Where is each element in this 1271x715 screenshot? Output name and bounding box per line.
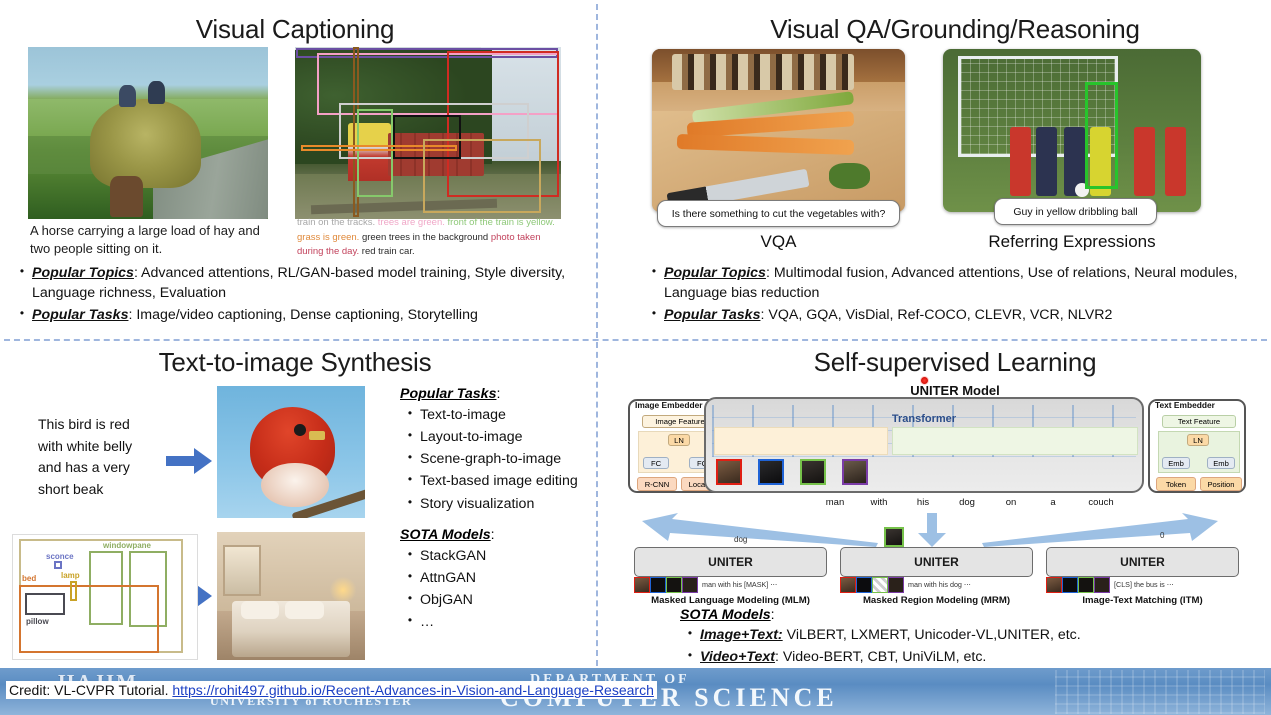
popular-tasks-heading: Popular Tasks <box>400 386 496 402</box>
layout-box-pillow <box>25 593 65 615</box>
image-ln-cell: LN <box>668 434 690 446</box>
itm-tokens: [CLS] the bus is ⋯ <box>1114 580 1174 589</box>
label-bed: bed <box>22 574 36 583</box>
bullet-text: : Image/video captioning, Dense captioni… <box>128 307 477 323</box>
lamp-glow <box>330 576 357 604</box>
mrm-token-strip: man with his dog ⋯ <box>840 576 971 594</box>
sota-models-heading: SOTA Models <box>400 527 491 543</box>
token-word-3: dog <box>946 497 988 508</box>
page-title-visual-qa: Visual QA/Grounding/Reasoning <box>650 14 1260 45</box>
region-token-3 <box>800 459 826 485</box>
ssl-sota-section: SOTA Models: • Image+Text: ViLBERT, LXME… <box>680 607 1240 669</box>
pillow-left <box>241 601 279 619</box>
credit-line: Credit: VL-CVPR Tutorial. https://rohit4… <box>6 681 657 699</box>
sota-text: ViLBERT, LXMERT, Unicoder-VL,UNITER, etc… <box>783 627 1081 643</box>
t2i-task-list: •Text-to-image •Layout-to-image •Scene-g… <box>400 405 590 514</box>
bullet-dot: • <box>680 625 700 642</box>
bullet-lead: Popular Tasks <box>32 307 128 323</box>
list-item: •StackGAN <box>400 546 590 566</box>
itm-region-1 <box>1046 577 1062 593</box>
dense-caption-0: train on the tracks. <box>297 217 375 228</box>
person-b <box>148 81 165 103</box>
task-label: Scene-graph-to-image <box>420 449 590 469</box>
t2i-sota-list: •StackGAN •AttnGAN •ObjGAN •… <box>400 546 590 633</box>
itm-caption: Image-Text Matching (ITM) <box>1040 595 1245 606</box>
region-token-4 <box>842 459 868 485</box>
itm-region-2 <box>1062 577 1078 593</box>
mrm-caption: Masked Region Modeling (MRM) <box>834 595 1039 606</box>
token-word-4: on <box>990 497 1032 508</box>
player-red-3 <box>1165 127 1186 195</box>
token-word-5: a <box>1032 497 1074 508</box>
building-illustration <box>1055 670 1265 714</box>
player-red-2 <box>1134 127 1155 195</box>
list-item: •Story visualization <box>400 494 590 514</box>
window <box>223 545 261 596</box>
mlm-region-2 <box>650 577 666 593</box>
bullet-dot: • <box>400 427 420 444</box>
hay-load <box>90 99 200 188</box>
token-cell: Token <box>1156 477 1196 491</box>
text-feature-cell: Text Feature <box>1162 415 1236 428</box>
dense-caption-4: green trees in the background <box>362 232 488 243</box>
vqa-question-balloon: Is there something to cut the vegetables… <box>657 200 900 227</box>
text-ln-cell: LN <box>1187 434 1209 446</box>
bullet-dot: • <box>644 263 664 280</box>
model-label: ObjGAN <box>420 590 590 610</box>
bullet-dot: • <box>680 647 700 664</box>
bullet-dot: • <box>400 568 420 585</box>
mrm-region-2 <box>856 577 872 593</box>
position-cell: Position <box>1200 477 1242 491</box>
horse-body <box>110 176 144 217</box>
list-item: • Popular Topics: Multimodal fusion, Adv… <box>644 263 1264 303</box>
bullet-text: : VQA, GQA, VisDial, Ref-COCO, CLEVR, VC… <box>760 307 1112 323</box>
bullet-lead: Popular Tasks <box>664 307 760 323</box>
plain-caption-text: A horse carrying a large load of hay and… <box>30 222 272 257</box>
image-token-embeds <box>714 427 888 455</box>
dense-caption-2: front of the train is yellow. <box>448 217 555 228</box>
list-item: •… <box>400 612 590 632</box>
mlm-region-3 <box>666 577 682 593</box>
itm-token-strip: [CLS] the bus is ⋯ <box>1046 576 1174 594</box>
captioning-bullets: • Popular Topics: Advanced attentions, R… <box>12 263 590 327</box>
vqa-kitchen-photo <box>652 49 905 212</box>
herbs <box>829 163 869 189</box>
mrm-region-1 <box>840 577 856 593</box>
task-label: Text-based image editing <box>420 471 590 491</box>
itm-target-label: 0 <box>1160 531 1164 540</box>
bullet-dot: • <box>400 405 420 422</box>
mrm-uniter-box: UNITER <box>840 547 1033 577</box>
itm-region-4 <box>1094 577 1110 593</box>
rcnn-cell: R-CNN <box>637 477 677 491</box>
label-windowpane: windowpane <box>103 541 151 550</box>
mlm-region-1 <box>634 577 650 593</box>
list-item: •Layout-to-image <box>400 427 590 447</box>
mlm-token-strip: man with his [MASK] ⋯ <box>634 576 778 594</box>
t2i-lists: Popular Tasks: •Text-to-image •Layout-to… <box>400 386 590 634</box>
task-label: Story visualization <box>420 494 590 514</box>
ssl-sota-heading: SOTA Models <box>680 607 771 623</box>
transformer-label: Transformer <box>706 413 1142 425</box>
vqa-sublabel: VQA <box>652 232 905 252</box>
bird-beak <box>309 431 325 440</box>
bullet-dot: • <box>400 546 420 563</box>
bird-eye <box>294 424 306 436</box>
bullet-dot: • <box>400 471 420 488</box>
jars-row <box>672 54 854 90</box>
itm-region-3 <box>1078 577 1094 593</box>
bullet-lead: Popular Topics <box>32 265 134 281</box>
arrow-to-mrm-icon <box>918 513 946 547</box>
list-item: • Popular Tasks: VQA, GQA, VisDial, Ref-… <box>644 305 1264 325</box>
text-embedder-title: Text Embedder <box>1155 400 1215 410</box>
sota-lead: Image+Text: <box>700 627 783 643</box>
dense-caption-text: train on the tracks. trees are green. fr… <box>297 216 565 260</box>
generated-bedroom-image <box>217 532 365 660</box>
dense-caption-1: trees are green. <box>378 217 445 228</box>
region-token-1 <box>716 459 742 485</box>
ssl-sota-list: • Image+Text: ViLBERT, LXMERT, Unicoder-… <box>680 625 1240 667</box>
token-word-2: his <box>902 497 944 508</box>
mrm-region-4 <box>888 577 904 593</box>
dense-caption-3: grass is green. <box>297 232 359 243</box>
region-token-2 <box>758 459 784 485</box>
list-item: •Text-to-image <box>400 405 590 425</box>
credit-url-link[interactable]: https://rohit497.github.io/Recent-Advanc… <box>172 682 653 698</box>
horse-hay-photo <box>28 47 268 219</box>
referring-expression-photo <box>943 49 1201 212</box>
page-title-self-supervised: Self-supervised Learning <box>650 347 1260 378</box>
referring-expression-sublabel: Referring Expressions <box>943 232 1201 252</box>
mlm-target-word: dog <box>734 535 747 544</box>
bullet-dot: • <box>12 263 32 280</box>
generated-bird-image <box>217 386 365 518</box>
mlm-caption: Masked Language Modeling (MLM) <box>628 595 833 606</box>
uniter-architecture-diagram: Image Embedder Image Feature LN FC FC R-… <box>628 385 1268 605</box>
dense-caption-6: red train car. <box>362 246 415 257</box>
list-item: •AttnGAN <box>400 568 590 588</box>
pillow-right <box>285 601 323 619</box>
bullet-dot: • <box>400 612 420 629</box>
bullet-dot: • <box>400 449 420 466</box>
player-red-1 <box>1010 127 1031 195</box>
bullet-dot: • <box>400 494 420 511</box>
bullet-lead: Popular Topics <box>664 265 766 281</box>
list-item: •Text-based image editing <box>400 471 590 491</box>
token-word-0: man <box>814 497 856 508</box>
bullet-dot: • <box>400 590 420 607</box>
task-label: Text-to-image <box>420 405 590 425</box>
model-label: StackGAN <box>420 546 590 566</box>
list-item: • Video+Text: Video-BERT, CBT, UniViLM, … <box>680 647 1240 667</box>
list-item: • Image+Text: ViLBERT, LXMERT, Unicoder-… <box>680 625 1240 645</box>
list-item: •Scene-graph-to-image <box>400 449 590 469</box>
itm-uniter-box: UNITER <box>1046 547 1239 577</box>
token-word-6: couch <box>1074 497 1128 508</box>
mlm-uniter-box: UNITER <box>634 547 827 577</box>
task-label: Layout-to-image <box>420 427 590 447</box>
text-embedder-block: Text Embedder Text Feature LN Emb Emb To… <box>1148 399 1246 493</box>
text-emb-left-cell: Emb <box>1162 457 1190 469</box>
mrm-target-region <box>884 527 904 547</box>
text-emb-right-cell: Emb <box>1207 457 1235 469</box>
label-sconce: sconce <box>46 552 74 561</box>
slide-canvas: Visual Captioning A horse carrying a lar… <box>0 0 1271 715</box>
referring-expression-balloon: Guy in yellow dribbling ball <box>994 198 1157 225</box>
scene-graph-layout: windowpane sconce bed lamp pillow <box>12 534 198 660</box>
bullet-dot: • <box>644 305 664 322</box>
sky-layer <box>481 47 561 161</box>
mrm-region-masked <box>872 577 888 593</box>
player-dark-1 <box>1036 127 1057 195</box>
locomotive <box>348 123 391 181</box>
train-cars <box>388 133 484 176</box>
person-a <box>119 85 136 107</box>
arrow-to-mlm-icon <box>642 513 882 547</box>
train-dense-caption-photo <box>295 47 561 219</box>
sota-text: : Video-BERT, CBT, UniViLM, etc. <box>775 649 986 665</box>
page-title-visual-captioning: Visual Captioning <box>60 14 530 45</box>
layout-box-lamp <box>70 581 77 601</box>
model-label: AttnGAN <box>420 568 590 588</box>
text-prompt: This bird is red with white belly and ha… <box>38 414 158 501</box>
page-title-text-to-image: Text-to-image Synthesis <box>60 347 530 378</box>
arrow-to-itm-icon <box>978 513 1218 547</box>
mlm-tokens: man with his [MASK] ⋯ <box>702 580 778 589</box>
credit-prefix: Credit: VL-CVPR Tutorial. <box>9 682 169 698</box>
transformer-block: Transformer <box>704 397 1144 493</box>
horizontal-divider <box>4 339 1267 341</box>
list-item: • Popular Topics: Advanced attentions, R… <box>12 263 590 303</box>
label-pillow: pillow <box>26 617 49 626</box>
image-fc-left-cell: FC <box>643 457 669 469</box>
mlm-region-4 <box>682 577 698 593</box>
bird-belly <box>261 463 329 508</box>
model-label: … <box>420 612 590 632</box>
bullet-dot: • <box>12 305 32 322</box>
layout-box-sconce <box>54 561 62 569</box>
grounding-box-green <box>1085 82 1119 190</box>
text-token-embeds <box>892 427 1138 455</box>
arrow-right-icon-top <box>166 448 212 474</box>
label-lamp: lamp <box>61 571 80 580</box>
list-item: •ObjGAN <box>400 590 590 610</box>
token-word-1: with <box>858 497 900 508</box>
mrm-tokens: man with his dog ⋯ <box>908 580 971 589</box>
list-item: • Popular Tasks: Image/video captioning,… <box>12 305 590 325</box>
cursor-marker-icon <box>920 376 929 385</box>
vqa-bullets: • Popular Topics: Multimodal fusion, Adv… <box>644 263 1264 327</box>
sota-lead: Video+Text <box>700 649 775 665</box>
image-embedder-title: Image Embedder <box>635 400 703 410</box>
vertical-divider <box>596 4 598 666</box>
